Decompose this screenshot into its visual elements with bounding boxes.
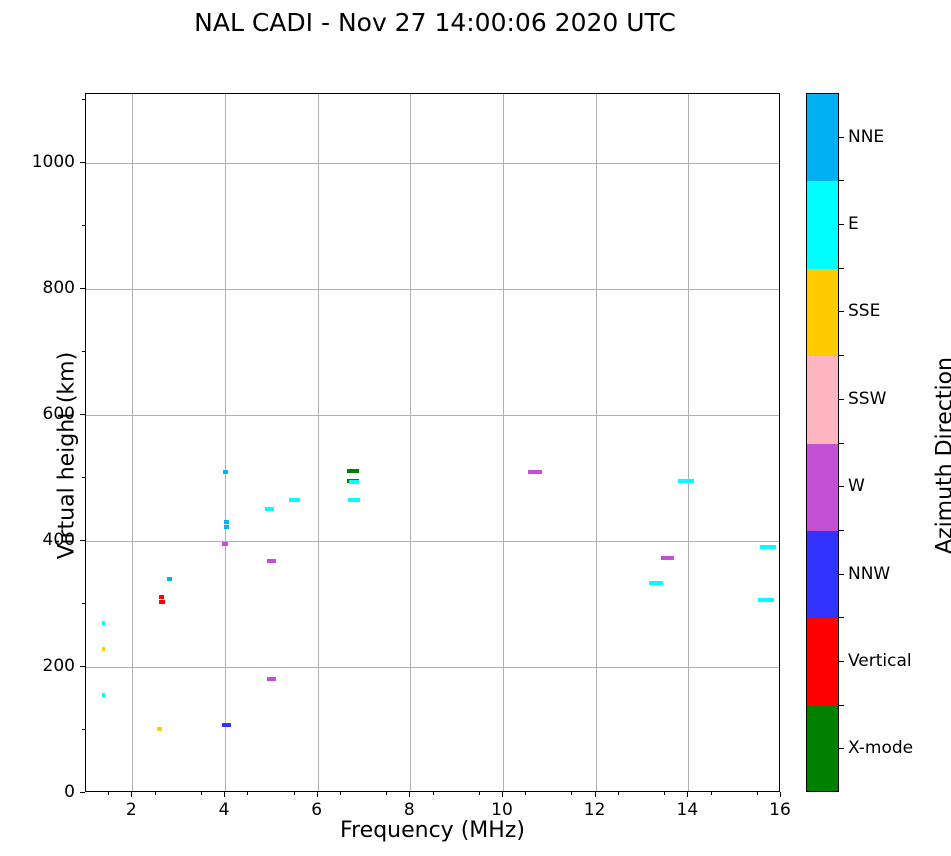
- x-tick-mark: [409, 792, 410, 797]
- echo-marker: [102, 621, 105, 625]
- echo-marker: [758, 598, 774, 602]
- echo-marker: [102, 647, 105, 651]
- echo-marker: [167, 577, 172, 581]
- y-tick-label: 400: [5, 530, 75, 550]
- echo-marker: [528, 470, 542, 474]
- y-tick-label: 600: [5, 404, 75, 424]
- colorbar-label-tick: [839, 661, 844, 662]
- colorbar-tick: [839, 530, 844, 531]
- gridline-horizontal: [86, 667, 779, 668]
- echo-marker: [159, 600, 165, 604]
- echo-marker: [649, 581, 663, 585]
- y-tick-minor: [82, 351, 85, 352]
- gridline-vertical: [225, 94, 226, 791]
- colorbar-tick: [839, 180, 844, 181]
- colorbar-segment-ssw: [807, 356, 838, 443]
- colorbar-label-tick: [839, 399, 844, 400]
- echo-marker: [224, 525, 229, 529]
- y-tick-mark: [80, 414, 85, 415]
- echo-marker: [347, 469, 359, 473]
- x-tick-minor: [479, 792, 480, 795]
- colorbar-label-tick: [839, 224, 844, 225]
- x-tick-label: 8: [404, 800, 415, 820]
- x-tick-minor: [294, 792, 295, 795]
- ionogram-figure: NAL CADI - Nov 27 14:00:06 2020 UTC Freq…: [0, 0, 951, 856]
- colorbar-label-nne: NNE: [848, 127, 884, 147]
- echo-marker: [760, 545, 776, 549]
- x-tick-minor: [664, 792, 665, 795]
- echo-marker: [228, 723, 231, 727]
- echo-marker: [267, 559, 276, 563]
- echo-marker: [661, 556, 674, 560]
- y-tick-mark: [80, 666, 85, 667]
- colorbar-tick: [839, 443, 844, 444]
- colorbar-segment-nne: [807, 94, 838, 181]
- x-tick-minor: [571, 792, 572, 795]
- colorbar-label-nnw: NNW: [848, 564, 890, 584]
- echo-marker: [102, 693, 105, 697]
- colorbar-segment-e: [807, 181, 838, 268]
- y-tick-minor: [82, 477, 85, 478]
- x-tick-mark: [687, 792, 688, 797]
- colorbar-label-e: E: [848, 214, 859, 234]
- gridline-vertical: [688, 94, 689, 791]
- x-tick-minor: [525, 792, 526, 795]
- colorbar-label-tick: [839, 748, 844, 749]
- x-tick-label: 10: [491, 800, 513, 820]
- colorbar-label-tick: [839, 486, 844, 487]
- x-tick-mark: [502, 792, 503, 797]
- x-tick-label: 2: [126, 800, 137, 820]
- colorbar-segment-sse: [807, 269, 838, 356]
- x-tick-label: 12: [584, 800, 606, 820]
- x-tick-label: 6: [311, 800, 322, 820]
- x-tick-label: 14: [677, 800, 699, 820]
- x-tick-minor: [247, 792, 248, 795]
- x-tick-minor: [108, 792, 109, 795]
- y-tick-mark: [80, 792, 85, 793]
- x-tick-minor: [711, 792, 712, 795]
- x-tick-minor: [386, 792, 387, 795]
- colorbar-tick: [839, 355, 844, 356]
- gridline-vertical: [410, 94, 411, 791]
- colorbar-segment-nnw: [807, 531, 838, 618]
- y-tick-minor: [82, 99, 85, 100]
- y-tick-mark: [80, 162, 85, 163]
- x-tick-mark: [780, 792, 781, 797]
- echo-marker: [223, 470, 228, 474]
- echo-marker: [267, 677, 276, 681]
- echo-marker: [157, 727, 162, 731]
- x-tick-minor: [618, 792, 619, 795]
- colorbar-tick: [839, 617, 844, 618]
- echo-marker: [678, 479, 694, 483]
- colorbar-label-x-mode: X-mode: [848, 738, 913, 758]
- x-tick-minor: [201, 792, 202, 795]
- colorbar-label-tick: [839, 311, 844, 312]
- x-tick-label: 4: [219, 800, 230, 820]
- colorbar-segment-w: [807, 444, 838, 531]
- gridline-horizontal: [86, 289, 779, 290]
- colorbar-label-tick: [839, 574, 844, 575]
- colorbar-tick: [839, 705, 844, 706]
- gridline-horizontal: [86, 541, 779, 542]
- x-tick-mark: [131, 792, 132, 797]
- x-tick-minor: [433, 792, 434, 795]
- y-tick-minor: [82, 729, 85, 730]
- y-tick-mark: [80, 288, 85, 289]
- y-tick-label: 0: [5, 782, 75, 802]
- colorbar-label-tick: [839, 137, 844, 138]
- page-title: NAL CADI - Nov 27 14:00:06 2020 UTC: [0, 8, 870, 37]
- x-tick-mark: [224, 792, 225, 797]
- x-tick-minor: [155, 792, 156, 795]
- x-tick-minor: [757, 792, 758, 795]
- echo-marker: [224, 520, 229, 524]
- echo-marker: [159, 595, 164, 599]
- y-tick-minor: [82, 225, 85, 226]
- y-tick-label: 200: [5, 656, 75, 676]
- gridline-vertical: [318, 94, 319, 791]
- echo-marker: [349, 480, 359, 484]
- colorbar-label-sse: SSE: [848, 301, 880, 321]
- azimuth-colorbar: [806, 93, 839, 792]
- x-tick-minor: [340, 792, 341, 795]
- echo-marker: [265, 507, 274, 511]
- colorbar-label-w: W: [848, 476, 865, 496]
- y-tick-label: 800: [5, 278, 75, 298]
- x-tick-mark: [317, 792, 318, 797]
- colorbar-segment-vertical: [807, 618, 838, 705]
- y-tick-label: 1000: [5, 152, 75, 172]
- echo-marker: [222, 723, 227, 727]
- colorbar-label-ssw: SSW: [848, 389, 886, 409]
- colorbar-tick: [839, 268, 844, 269]
- echo-marker: [222, 542, 228, 546]
- x-tick-mark: [595, 792, 596, 797]
- x-tick-label: 16: [769, 800, 791, 820]
- colorbar-segment-x-mode: [807, 706, 838, 792]
- colorbar-label-vertical: Vertical: [848, 651, 912, 671]
- gridline-vertical: [503, 94, 504, 791]
- gridline-vertical: [132, 94, 133, 791]
- gridline-vertical: [596, 94, 597, 791]
- echo-marker: [348, 498, 360, 502]
- y-tick-mark: [80, 540, 85, 541]
- x-axis-label: Frequency (MHz): [85, 818, 780, 843]
- gridline-horizontal: [86, 415, 779, 416]
- y-tick-minor: [82, 603, 85, 604]
- plot-area: [85, 93, 780, 792]
- colorbar-title: Azimuth Direction: [933, 246, 951, 666]
- gridline-horizontal: [86, 163, 779, 164]
- y-axis-label: Virtual height (km): [55, 256, 80, 656]
- echo-marker: [289, 498, 299, 502]
